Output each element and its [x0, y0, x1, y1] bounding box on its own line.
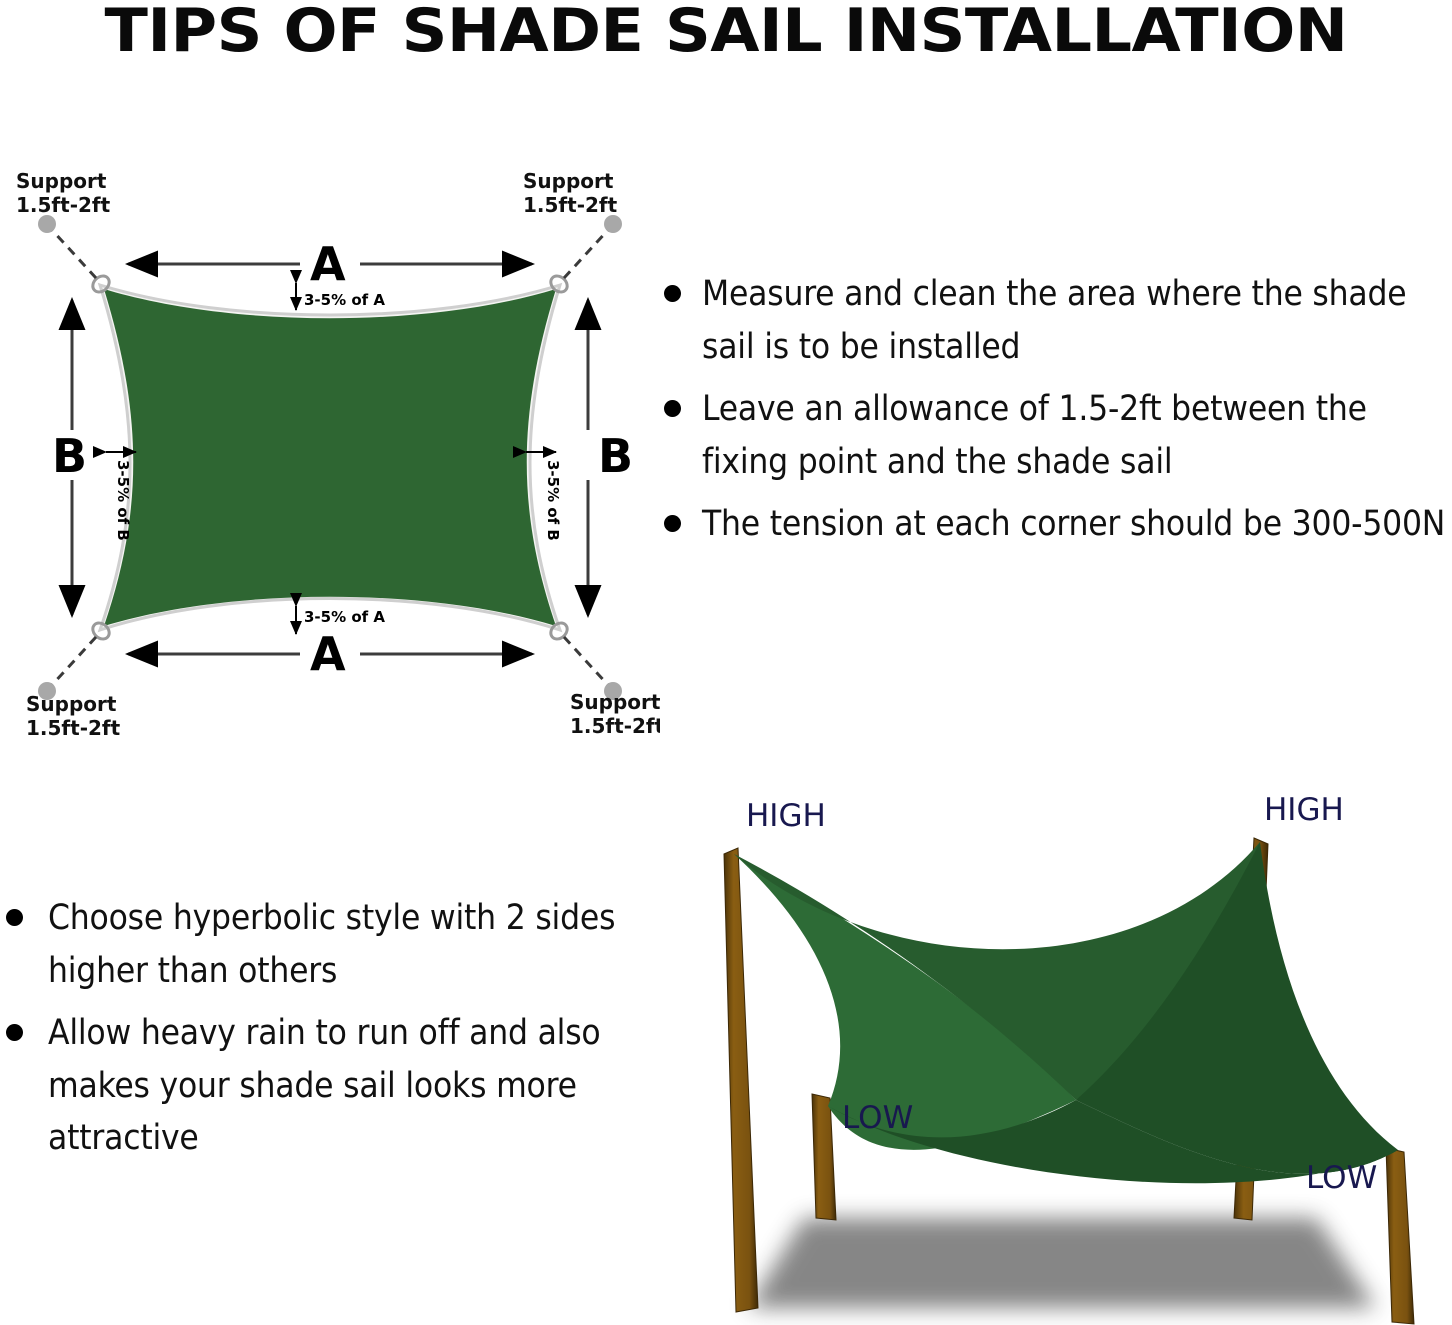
post-high-left: [724, 848, 758, 1312]
support-label-top-right: Support 1.5ft-2ft: [523, 169, 618, 217]
hyperbolic-sail-diagram: HIGH HIGH LOW LOW: [676, 788, 1452, 1325]
list-item: Choose hyperbolic style with 2 sides hig…: [0, 892, 640, 997]
dimension-b-label: B: [52, 429, 87, 483]
post-low-left: [812, 1094, 836, 1220]
dimension-a-label: A: [310, 627, 346, 681]
support-label-title: Support: [523, 169, 614, 193]
support-label-bottom-right: Support 1.5ft-2ft: [570, 690, 660, 738]
list-item: Allow heavy rain to run off and also mak…: [0, 1007, 640, 1165]
list-item: Measure and clean the area where the sha…: [650, 268, 1452, 373]
list-item: The tension at each corner should be 300…: [650, 498, 1452, 551]
support-dot-top-right: [604, 215, 622, 233]
dimension-a-label: A: [310, 237, 346, 291]
sag-a-label-bottom: 3-5% of A: [304, 608, 385, 626]
sag-b-label-right: 3-5% of B: [544, 460, 562, 541]
support-label-value: 1.5ft-2ft: [523, 193, 618, 217]
support-label-title: Support: [570, 690, 660, 714]
installation-tips-list: Measure and clean the area where the sha…: [650, 268, 1452, 561]
support-label-top-left: Support 1.5ft-2ft: [16, 169, 111, 217]
dimension-a-top: A 3-5% of A: [128, 237, 532, 310]
sag-b-label-left: 3-5% of B: [114, 460, 132, 541]
sag-a-label-top: 3-5% of A: [304, 291, 385, 309]
label-high-right: HIGH: [1264, 792, 1344, 828]
page-title: TIPS OF SHADE SAIL INSTALLATION: [0, 0, 1452, 66]
post-low-right: [1386, 1148, 1414, 1324]
hyperbolic-style-tips-list: Choose hyperbolic style with 2 sides hig…: [0, 892, 640, 1175]
label-high-left: HIGH: [746, 798, 826, 834]
dimension-a-bottom: A 3-5% of A: [128, 606, 532, 681]
support-label-value: 1.5ft-2ft: [570, 714, 660, 738]
support-label-value: 1.5ft-2ft: [16, 193, 111, 217]
label-low-right: LOW: [1306, 1160, 1377, 1196]
support-label-value: 1.5ft-2ft: [26, 716, 121, 740]
label-low-left: LOW: [842, 1100, 913, 1136]
support-label-bottom-left: Support 1.5ft-2ft: [26, 692, 121, 740]
support-label-title: Support: [26, 692, 117, 716]
support-dot-top-left: [38, 215, 56, 233]
list-item: Leave an allowance of 1.5-2ft between th…: [650, 383, 1452, 488]
sail-fabric: [104, 289, 556, 626]
dimension-b-label: B: [598, 429, 633, 483]
ground-shadow: [748, 1218, 1376, 1308]
support-label-title: Support: [16, 169, 107, 193]
rectangular-sail-diagram: Support 1.5ft-2ft Support 1.5ft-2ft Supp…: [0, 160, 660, 740]
